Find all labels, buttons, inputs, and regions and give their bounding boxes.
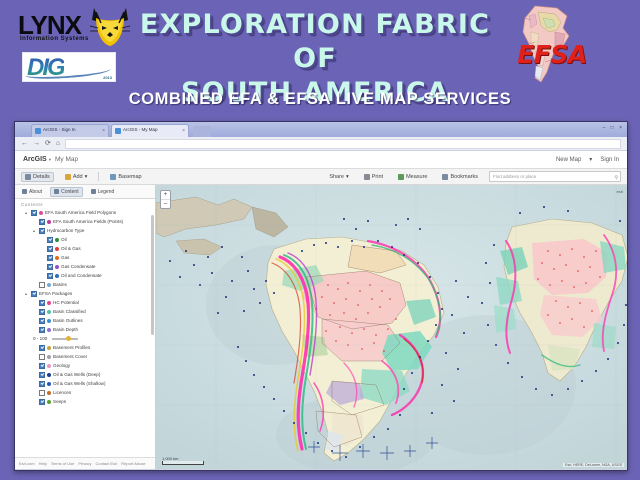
legend-icon (91, 189, 96, 194)
layer-checkbox[interactable] (39, 309, 45, 315)
footer-link[interactable]: Contact Esri (95, 461, 117, 466)
efsa-logo: EFSA (505, 2, 597, 86)
details-label: Details (33, 174, 50, 180)
map-canvas[interactable]: + – esri 1,000 km Esri, HERE, DeLorme, N… (156, 185, 627, 469)
depth-slider-label: 0 - 100 (33, 334, 47, 343)
layer-checkbox[interactable] (39, 318, 45, 324)
layer-item[interactable]: Basin Depth (19, 325, 155, 334)
panel-title: Contents (15, 199, 155, 208)
layer-item[interactable]: ▴Hydrocarbon Type (19, 226, 155, 235)
scale-line (162, 461, 204, 465)
toolbar-divider (98, 172, 99, 181)
layer-item[interactable]: Oil (19, 235, 155, 244)
slide-root: LYNX Information Systems DIG 2013 EXPLOR… (0, 0, 640, 480)
layer-checkbox[interactable] (39, 345, 45, 351)
layer-label: Basin Depth (53, 325, 78, 334)
layer-checkbox[interactable] (39, 363, 45, 369)
print-label: Print (372, 174, 383, 180)
layer-item[interactable]: ▴EFA South America Field Polygons (19, 208, 155, 217)
tab-title: ArcGIS - My Map (123, 127, 158, 132)
zoom-in-button[interactable]: + (161, 191, 170, 200)
layer-symbol-icon (47, 328, 51, 332)
chevron-down-icon: ▾ (346, 174, 349, 180)
layer-label: Oil (61, 235, 67, 244)
tab-favicon (35, 128, 41, 134)
layer-symbol-icon (47, 346, 51, 350)
layer-label: Licences (53, 388, 71, 397)
arcgis-brand[interactable]: ArcGIS (23, 156, 47, 163)
layer-item[interactable]: Basin Outlines (19, 316, 155, 325)
panel-footer-links: Esri.comHelpTerms of UsePrivacyContact E… (15, 457, 155, 469)
layer-symbol-icon (47, 301, 51, 305)
layer-item[interactable]: ▴EFSA Packages (19, 289, 155, 298)
layer-label: Oil & Gas Wells (Deep) (53, 370, 100, 379)
forward-icon[interactable]: → (33, 140, 40, 147)
lynx-tagline: Information Systems (20, 36, 89, 42)
info-icon (22, 189, 27, 194)
slider-track[interactable] (52, 338, 78, 340)
layer-item[interactable]: Basins (19, 280, 155, 289)
layer-checkbox[interactable] (31, 210, 37, 216)
details-button[interactable]: Details (21, 172, 54, 182)
bookmark-icon (442, 174, 448, 180)
expand-icon[interactable]: ▴ (25, 208, 29, 217)
print-button[interactable]: Print (360, 172, 387, 182)
tab-about-label: About (29, 189, 42, 195)
layer-symbol-icon (47, 391, 51, 395)
layer-label: Oil & Gas Wells (Shallow) (53, 379, 106, 388)
footer-link[interactable]: Report Abuse (121, 461, 145, 466)
layer-item[interactable]: Gas Condensate (19, 262, 155, 271)
panel-scrollbar[interactable] (151, 215, 154, 335)
arcgis-header-right: New Map ▾ Sign In (556, 156, 619, 163)
tab-content-label: Content (61, 189, 79, 195)
layer-checkbox[interactable] (47, 264, 53, 270)
sign-in-button[interactable]: Sign In (600, 157, 619, 163)
layer-symbol-icon (55, 274, 59, 278)
browser-window: ArcGIS - Sign In × ArcGIS - My Map × – □… (14, 121, 628, 471)
bookmarks-button[interactable]: Bookmarks (438, 172, 482, 182)
zoom-controls[interactable]: + – (160, 190, 171, 209)
add-icon (65, 174, 71, 180)
layer-symbol-icon (47, 310, 51, 314)
tab-legend[interactable]: Legend (88, 188, 118, 196)
expand-icon[interactable]: ▴ (33, 226, 37, 235)
new-tab-button[interactable] (193, 126, 211, 137)
layer-item[interactable]: Seeps (19, 397, 155, 406)
page-subtitle: COMBINED EFA & EFSA LIVE MAP SERVICES (60, 90, 580, 109)
layer-symbol-icon (47, 355, 51, 359)
bookmarks-label: Bookmarks (450, 174, 478, 180)
scale-bar: 1,000 km (162, 456, 204, 465)
layer-label: Seeps (53, 397, 66, 406)
layer-symbol-icon (47, 382, 51, 386)
lynx-logo: LYNX Information Systems (18, 6, 130, 50)
chevron-down-icon[interactable]: ▾ (589, 156, 592, 163)
slider-handle[interactable] (66, 336, 71, 341)
esri-logo: esri (617, 189, 623, 194)
layer-item[interactable]: Basement Profiles (19, 343, 155, 352)
arcgis-body: About Content Legend Contents ▴EFA South… (15, 185, 627, 469)
title-line-1: EXPLORATION FABRIC OF (130, 8, 500, 76)
map-name: My Map (55, 156, 78, 163)
layer-checkbox[interactable] (39, 372, 45, 378)
layer-symbol-icon (47, 373, 51, 377)
layer-label: Basement Cover (53, 352, 87, 361)
layer-label: Hydrocarbon Type (47, 226, 84, 235)
layer-item[interactable]: Oil & Gas Wells (Deep) (19, 370, 155, 379)
layer-symbol-icon (47, 319, 51, 323)
layer-item[interactable]: Licences (19, 388, 155, 397)
layer-checkbox[interactable] (31, 291, 37, 297)
layer-checkbox[interactable] (47, 246, 53, 252)
measure-button[interactable]: Measure (394, 172, 431, 182)
dig-year: 2013 (103, 75, 112, 80)
layer-item[interactable]: Oil & Gas (19, 244, 155, 253)
layer-checkbox[interactable] (39, 282, 45, 288)
footer-link[interactable]: Terms of Use (51, 461, 75, 466)
share-label: Share (329, 174, 344, 180)
tab-about[interactable]: About (19, 188, 45, 196)
layer-label: EFA South America Field Polygons (45, 208, 116, 217)
map-attribution: Esri, HERE, DeLorme, NGA, USGS (563, 463, 624, 467)
layer-label: Geology (53, 361, 70, 370)
layer-symbol-icon (47, 283, 51, 287)
measure-icon (398, 174, 404, 180)
arcgis-header: ArcGIS ▾ My Map New Map ▾ Sign In (15, 151, 627, 169)
layer-symbol-icon (55, 247, 59, 251)
layer-checkbox[interactable] (39, 399, 45, 405)
expand-icon[interactable]: ▴ (25, 289, 29, 298)
dig-logo: DIG 2013 (22, 52, 116, 82)
layer-symbol-icon (47, 400, 51, 404)
footer-link[interactable]: Help (39, 461, 47, 466)
layer-label: Basin Outlines (53, 316, 83, 325)
tab-title: ArcGIS - Sign In (43, 127, 76, 132)
share-button[interactable]: Share ▾ (325, 172, 352, 182)
back-icon[interactable]: ← (21, 140, 28, 147)
new-map-button[interactable]: New Map (556, 157, 581, 163)
browser-tab-2[interactable]: ArcGIS - My Map × (111, 124, 189, 137)
footer-link[interactable]: Esri.com (19, 461, 35, 466)
tab-content[interactable]: Content (50, 187, 83, 197)
layer-checkbox[interactable] (39, 300, 45, 306)
layer-checkbox[interactable] (39, 327, 45, 333)
tab-favicon (115, 128, 121, 134)
browser-tab-1[interactable]: ArcGIS - Sign In × (31, 124, 109, 137)
layer-item[interactable]: Geology (19, 361, 155, 370)
contents-panel: About Content Legend Contents ▴EFA South… (15, 185, 156, 469)
measure-label: Measure (406, 174, 427, 180)
layer-checkbox[interactable] (47, 273, 53, 279)
layer-checkbox[interactable] (47, 237, 53, 243)
address-bar[interactable] (65, 139, 621, 149)
layer-label: Gas Condensate (61, 262, 95, 271)
layer-label: Basins (53, 280, 67, 289)
panel-tabs: About Content Legend (15, 185, 155, 199)
layer-checkbox[interactable] (39, 390, 45, 396)
layer-item[interactable]: Gas (19, 253, 155, 262)
layer-checkbox[interactable] (39, 354, 45, 360)
layer-label: Basin Classified (53, 307, 86, 316)
chevron-down-icon: ▾ (85, 174, 88, 180)
print-icon (364, 174, 370, 180)
add-button[interactable]: Add ▾ (61, 172, 92, 182)
layer-checkbox[interactable] (39, 219, 45, 225)
layer-label: EFA South America Fields (Points) (53, 217, 123, 226)
search-icon[interactable]: ⚲ (614, 174, 618, 183)
layer-item[interactable]: EFA South America Fields (Points) (19, 217, 155, 226)
reload-icon[interactable]: ⟳ (45, 140, 51, 147)
window-controls[interactable]: – □ × (603, 125, 625, 131)
layer-item[interactable]: HC Potential (19, 298, 155, 307)
layer-label: EFSA Packages (39, 289, 72, 298)
add-label: Add (73, 174, 83, 180)
layer-checkbox[interactable] (39, 381, 45, 387)
tab-legend-label: Legend (98, 189, 115, 195)
layer-item[interactable]: Oil & Gas Wells (Shallow) (19, 379, 155, 388)
map-toolbar: Details Add ▾ Basemap Share ▾ Print (15, 169, 627, 185)
layer-item[interactable]: Oil and Condensate (19, 271, 155, 280)
layer-item[interactable]: Basement Cover (19, 352, 155, 361)
chevron-down-icon[interactable]: ▾ (49, 157, 51, 163)
layer-symbol-icon (55, 238, 59, 242)
layer-label: Gas (61, 253, 69, 262)
zoom-out-button[interactable]: – (161, 200, 170, 208)
layer-label: Basement Profiles (53, 343, 90, 352)
footer-link[interactable]: Privacy (78, 461, 91, 466)
lynx-head-icon (88, 6, 132, 48)
browser-navbar: ← → ⟳ ⌂ (15, 137, 627, 151)
efsa-wordmark: EFSA (512, 40, 592, 69)
layer-symbol-icon (55, 256, 59, 260)
details-icon (25, 174, 31, 180)
content-icon (54, 189, 59, 194)
browser-tabstrip: ArcGIS - Sign In × ArcGIS - My Map × – □… (15, 122, 627, 137)
layer-checkbox[interactable] (47, 255, 53, 261)
layer-symbol-icon (39, 211, 43, 215)
layer-label: HC Potential (53, 298, 79, 307)
basemap-label: Basemap (118, 174, 141, 180)
layer-symbol-icon (47, 364, 51, 368)
layer-label: Oil & Gas (61, 244, 81, 253)
map-graphics (156, 185, 627, 469)
basemap-icon (110, 174, 116, 180)
layer-symbol-icon (47, 220, 51, 224)
layer-symbol-icon (55, 265, 59, 269)
close-icon[interactable]: × (182, 128, 185, 134)
home-icon[interactable]: ⌂ (56, 140, 60, 147)
layer-item[interactable]: Basin Classified (19, 307, 155, 316)
basemap-button[interactable]: Basemap (106, 172, 145, 182)
layer-label: Oil and Condensate (61, 271, 102, 280)
close-icon[interactable]: × (102, 128, 105, 134)
layer-list[interactable]: ▴EFA South America Field PolygonsEFA Sou… (15, 208, 155, 457)
layer-checkbox[interactable] (39, 228, 45, 234)
map-search-input[interactable]: Find address or place ⚲ (489, 171, 621, 182)
depth-slider-row[interactable]: 0 - 100 (19, 334, 155, 343)
